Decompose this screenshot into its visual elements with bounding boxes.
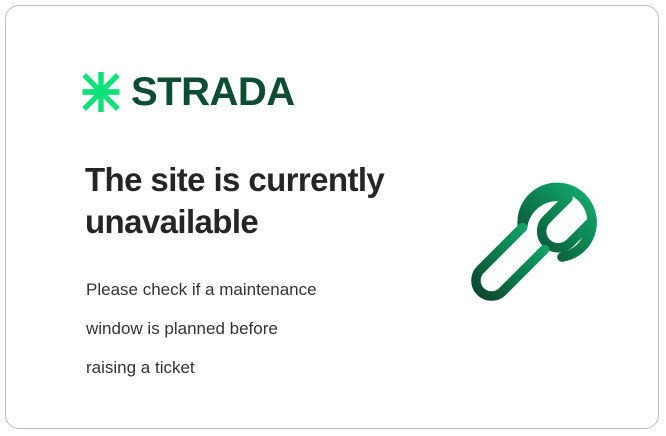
description-line: Please check if a maintenance: [86, 270, 396, 309]
brand-wordmark: STRADA: [131, 72, 295, 112]
description-line: window is planned before: [86, 309, 396, 348]
brand-lockup: STRADA: [80, 70, 295, 114]
strada-asterisk-icon: [80, 70, 122, 114]
description-line: raising a ticket: [86, 348, 396, 387]
page-title: The site is currently unavailable: [85, 159, 415, 243]
status-page-card: STRADA The site is currently unavailable…: [5, 5, 659, 429]
page-description: Please check if a maintenance window is …: [86, 270, 396, 387]
